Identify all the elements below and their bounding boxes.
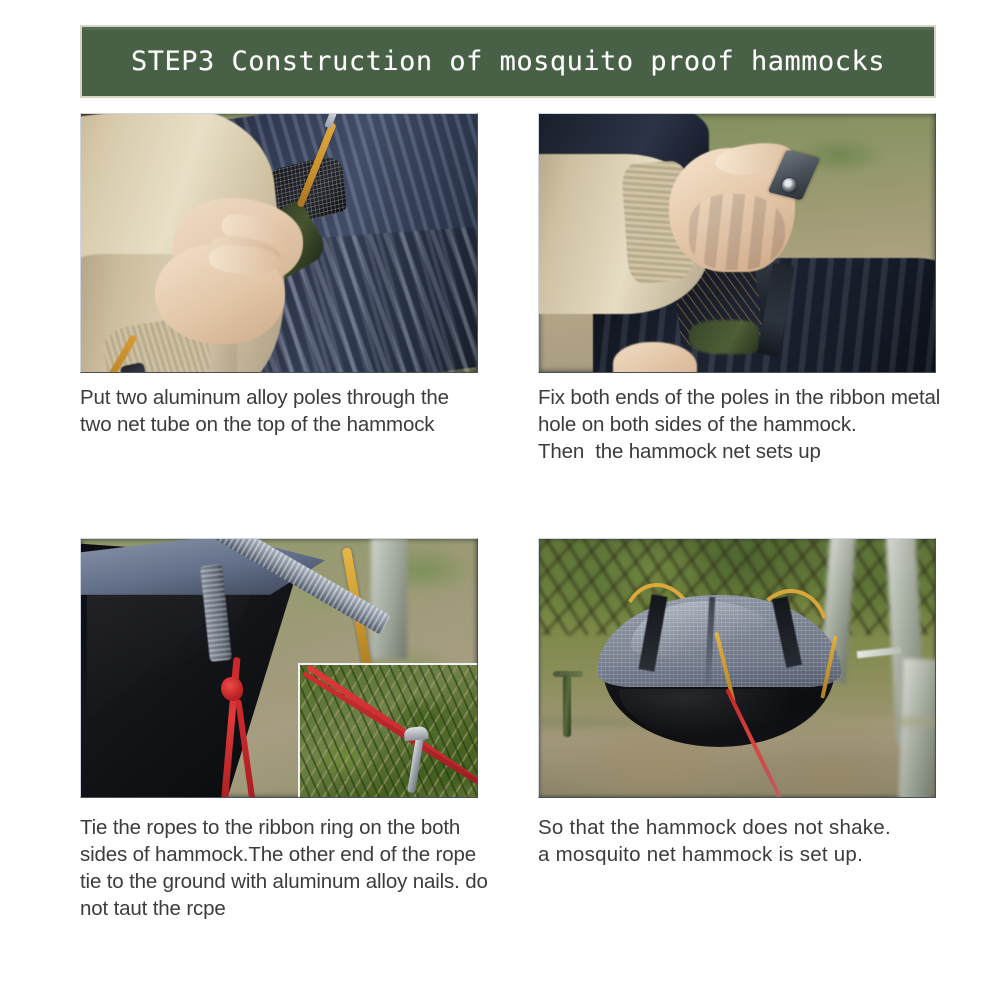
- photo-assembled-mosquito-net-hammock: [538, 538, 936, 798]
- caption-line: Then the hammock net sets up: [538, 438, 943, 465]
- caption-line: not taut the rcpe: [80, 895, 484, 922]
- caption-line: hole on both sides of the hammock.: [538, 411, 943, 438]
- caption-step-3: Tie the ropes to the ribbon ring on the …: [80, 814, 484, 922]
- ground-stake: [563, 675, 571, 737]
- photo-fix-pole-ends-in-ribbon-metal-hole: [538, 113, 936, 373]
- hammock-green-trim: [689, 320, 759, 354]
- caption-line: tie to the ground with aluminum alloy na…: [80, 868, 484, 895]
- caption-step-4: So that the hammock does not shake. a mo…: [538, 814, 943, 868]
- ribbon-metal-hole: [782, 178, 797, 193]
- tree-trunk-3: [898, 658, 936, 798]
- rope-knot: [221, 677, 243, 701]
- photo-1-scene: [81, 114, 477, 372]
- photo-4-scene: [539, 539, 935, 797]
- hand-fingers: [689, 194, 785, 270]
- aluminum-alloy-nail-hook: [403, 726, 428, 741]
- photo-2-scene: [539, 114, 935, 372]
- caption-line: Put two aluminum alloy poles through the: [80, 384, 480, 411]
- tree-trunk: [371, 539, 407, 659]
- caption-step-2: Fix both ends of the poles in the ribbon…: [538, 384, 943, 465]
- caption-line: sides of hammock.The other end of the ro…: [80, 841, 484, 868]
- caption-line: Fix both ends of the poles in the ribbon…: [538, 384, 943, 411]
- photo-tie-ropes-to-ribbon-ring: [80, 538, 478, 798]
- caption-line: So that the hammock does not shake.: [538, 814, 943, 841]
- photo-3-scene: [81, 539, 477, 797]
- photo-insert-poles-into-net-tube: [80, 113, 478, 373]
- caption-line: Tie the ropes to the ribbon ring on the …: [80, 814, 484, 841]
- page-title: STEP3 Construction of mosquito proof ham…: [131, 46, 885, 77]
- caption-line: a mosquito net hammock is set up.: [538, 841, 943, 868]
- caption-step-1: Put two aluminum alloy poles through the…: [80, 384, 480, 438]
- caption-line: two net tube on the top of the hammock: [80, 411, 480, 438]
- infographic-page: STEP3 Construction of mosquito proof ham…: [0, 0, 1000, 1000]
- inset-rope-staked-to-ground: [298, 663, 478, 798]
- step-title-bar: STEP3 Construction of mosquito proof ham…: [80, 25, 936, 98]
